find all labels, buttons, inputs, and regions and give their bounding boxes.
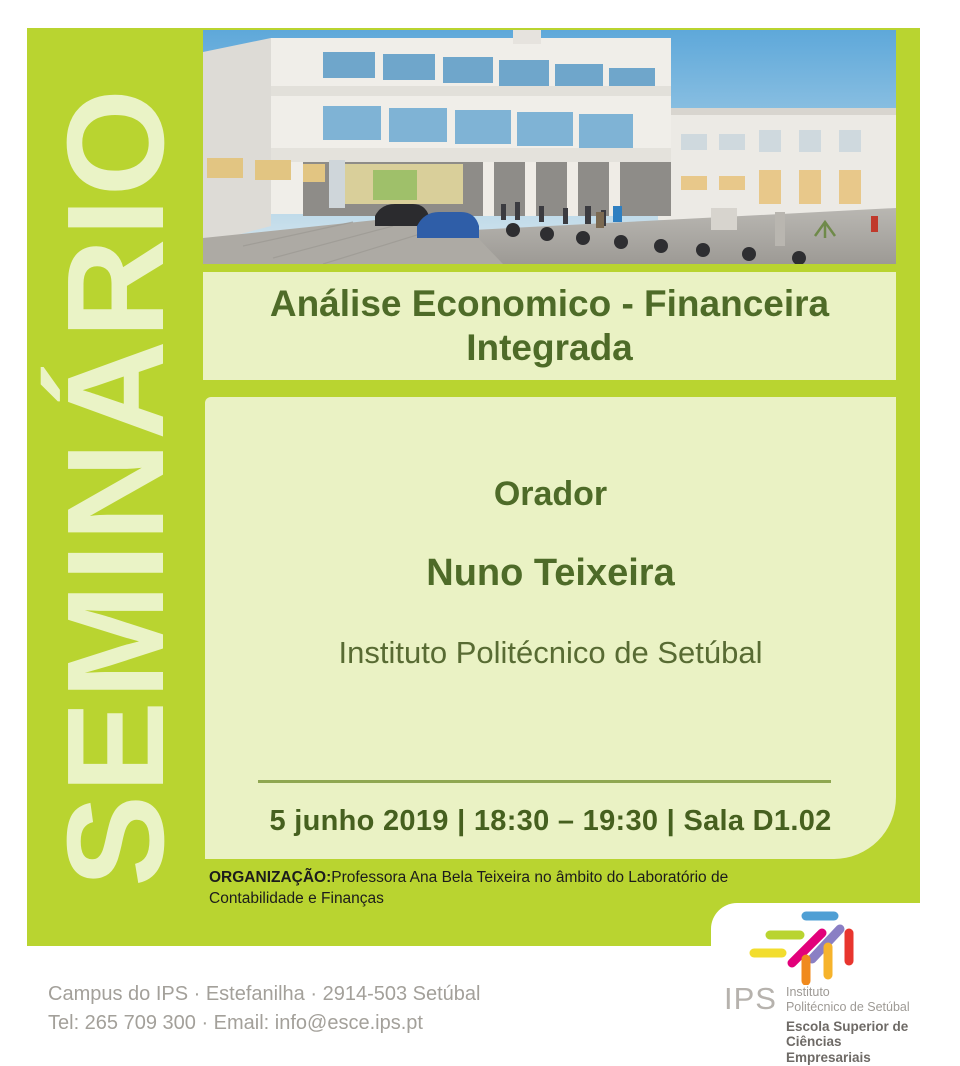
ips-school-line-2: Ciências Empresariais [786,1034,871,1065]
seminar-details-panel: Orador Nuno Teixeira Instituto Politécni… [205,397,896,859]
footer-phone-email: Tel: 265 709 300 · Email: info@esce.ips.… [48,1009,480,1038]
ips-letters: IPS [724,983,777,1014]
seminar-title-panel: Análise Economico - Financeira Integrada [203,272,896,380]
organization-label: ORGANIZAÇÃO: [209,869,331,886]
ips-logo: IPS Instituto Politécnico de Setúbal Esc… [724,903,924,1049]
ips-logo-names: Instituto Politécnico de Setúbal Escola … [786,985,924,1066]
seminario-sidebar: SEMINÁRIO [27,28,205,946]
campus-photo [203,30,896,264]
speaker-affiliation: Instituto Politécnico de Setúbal [205,635,896,671]
page-title: Análise Economico - Financeira Integrada [270,282,829,369]
ips-institute-line-1: Instituto [786,985,830,999]
ips-institute-name: Instituto Politécnico de Setúbal [786,985,924,1015]
campus-photo-illustration [203,30,896,264]
divider-rule [258,780,831,783]
footer-contact: Campus do IPS · Estefanilha · 2914-503 S… [48,980,480,1038]
organization-note: ORGANIZAÇÃO:Professora Ana Bela Teixeira… [209,868,809,910]
speaker-label: Orador [205,475,896,514]
footer-address: Campus do IPS · Estefanilha · 2914-503 S… [48,980,480,1009]
ips-school-line-1: Escola Superior de [786,1019,908,1034]
ips-institute-line-2: Politécnico de Setúbal [786,1000,910,1014]
seminario-word: SEMINÁRIO [47,87,185,887]
ips-logo-text: IPS Instituto Politécnico de Setúbal Esc… [724,983,924,1066]
title-line-1: Análise Economico - Financeira [270,283,829,324]
speaker-name: Nuno Teixeira [205,552,896,595]
title-line-2: Integrada [466,327,633,368]
ips-logo-mark-icon [748,903,868,985]
event-datetime: 5 junho 2019 | 18:30 – 19:30 | Sala D1.0… [205,805,896,838]
